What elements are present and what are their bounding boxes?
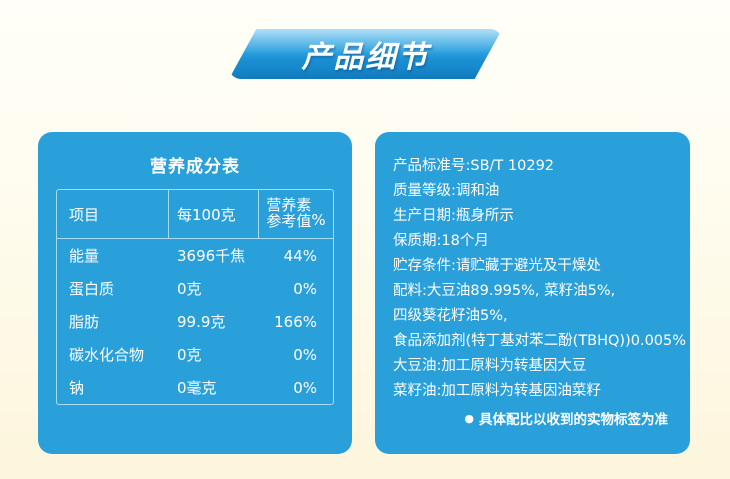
bullet-icon: ● [464, 412, 474, 425]
row-item-label: 蛋白质 [57, 278, 169, 299]
banner-title: 产品细节 [229, 29, 502, 79]
header-nrv-lines: 营养素 参考值 [266, 198, 311, 230]
table-row: 碳水化合物 0克 0% [57, 338, 333, 371]
row-item-label: 脂肪 [57, 311, 169, 332]
header-nrv-percent-symbol: % [311, 213, 325, 230]
header-nrv-line2: 参考值 [266, 214, 311, 230]
list-item: 产品标准号:SB/T 10292 [393, 154, 690, 179]
section-banner: 产品细节 [229, 29, 502, 79]
nutrition-table: 项目 每100克 营养素 参考值 % 能量 3696千焦 44% [56, 189, 334, 405]
row-item-nrv: 0% [259, 346, 333, 364]
specification-panel: 产品标准号:SB/T 10292 质量等级:调和油 生产日期:瓶身所示 保质期:… [375, 132, 690, 454]
row-item-label: 能量 [57, 245, 169, 266]
row-item-label: 钠 [57, 377, 169, 398]
list-item: 生产日期:瓶身所示 [393, 204, 690, 229]
header-cell-item: 项目 [57, 190, 169, 238]
row-item-value: 0克 [169, 344, 259, 365]
list-item: 四级葵花籽油5%, [393, 304, 690, 329]
row-item-value: 99.9克 [169, 311, 259, 332]
row-item-value: 0克 [169, 278, 259, 299]
product-detail-page: 产品细节 营养成分表 项目 每100克 营养素 参考值 % [0, 0, 730, 479]
row-item-nrv: 0% [259, 280, 333, 298]
row-item-nrv: 0% [259, 379, 333, 397]
list-item: 大豆油:加工原料为转基因大豆 [393, 354, 690, 379]
nutrition-table-header-row: 项目 每100克 营养素 参考值 % [57, 190, 333, 239]
row-item-value: 3696千焦 [169, 245, 259, 266]
header-nrv-stack: 营养素 参考值 % [266, 198, 325, 230]
row-item-value: 0毫克 [169, 377, 259, 398]
nutrition-table-title: 营养成分表 [38, 152, 352, 177]
header-cell-per-100g: 每100克 [169, 190, 259, 238]
list-item: 配料:大豆油89.995%, 菜籽油5%, [393, 279, 690, 304]
list-item: 保质期:18个月 [393, 229, 690, 254]
list-item: 食品添加剂(特丁基对苯二酚(TBHQ))0.005% [393, 329, 690, 354]
specification-footnote: ●具体配比以收到的实物标签为准 [464, 408, 668, 428]
row-item-label: 碳水化合物 [57, 344, 169, 365]
list-item: 贮存条件:请贮藏于避光及干燥处 [393, 254, 690, 279]
specification-list: 产品标准号:SB/T 10292 质量等级:调和油 生产日期:瓶身所示 保质期:… [393, 154, 690, 404]
table-row: 钠 0毫克 0% [57, 371, 333, 404]
list-item: 菜籽油:加工原料为转基因油菜籽 [393, 379, 690, 404]
row-item-nrv: 44% [259, 247, 333, 265]
footnote-text: 具体配比以收到的实物标签为准 [479, 412, 668, 428]
nutrition-panel: 营养成分表 项目 每100克 营养素 参考值 % 能量 3696千 [38, 132, 352, 454]
table-row: 蛋白质 0克 0% [57, 272, 333, 305]
table-row: 能量 3696千焦 44% [57, 239, 333, 272]
table-row: 脂肪 99.9克 166% [57, 305, 333, 338]
header-cell-nrv: 营养素 参考值 % [259, 190, 333, 238]
list-item: 质量等级:调和油 [393, 179, 690, 204]
row-item-nrv: 166% [259, 313, 333, 331]
